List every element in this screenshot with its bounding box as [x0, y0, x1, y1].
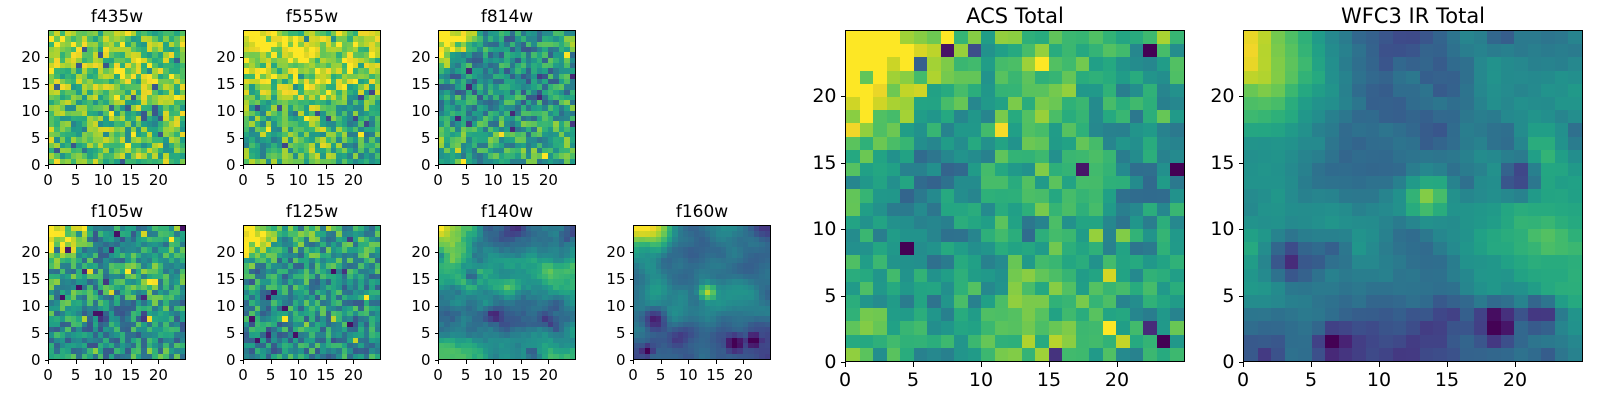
y-tick-label: 5 [576, 324, 626, 342]
x-tick-label: 15 [1037, 369, 1061, 391]
x-tick-mark [521, 360, 522, 364]
y-tick-label: 5 [381, 129, 431, 147]
heatmap-axes-f125w[interactable] [243, 225, 381, 360]
x-tick-label: 15 [316, 171, 335, 189]
y-tick-label: 5 [381, 324, 431, 342]
heatmap-grid-f814w [439, 31, 575, 164]
x-tick-label: 0 [43, 366, 53, 384]
y-tick-label: 15 [381, 270, 431, 288]
x-tick-label: 15 [316, 366, 335, 384]
x-tick-label: 5 [461, 366, 471, 384]
x-tick-mark [243, 360, 244, 364]
y-tick-label: 20 [186, 48, 236, 66]
x-tick-label: 20 [539, 171, 558, 189]
y-tick-label: 10 [186, 297, 236, 315]
heatmap-axes-f160w[interactable] [633, 225, 771, 360]
y-tick-mark [435, 360, 439, 361]
y-tick-label: 20 [0, 48, 41, 66]
x-tick-label: 0 [433, 171, 443, 189]
y-tick-label: 20 [787, 85, 837, 107]
y-tick-label: 0 [576, 351, 626, 369]
y-tick-label: 15 [186, 270, 236, 288]
heatmap-grid-f125w [244, 226, 380, 359]
y-tick-label: 5 [1185, 285, 1235, 307]
x-tick-mark [158, 165, 159, 169]
heatmap-axes-wfc3-ir-total[interactable] [1243, 30, 1583, 362]
y-tick-label: 10 [787, 218, 837, 240]
x-tick-mark [1379, 362, 1380, 367]
y-tick-label: 20 [576, 243, 626, 261]
y-tick-label: 5 [787, 285, 837, 307]
x-tick-label: 20 [539, 366, 558, 384]
x-tick-label: 20 [149, 366, 168, 384]
x-tick-label: 10 [484, 366, 503, 384]
x-tick-mark [521, 165, 522, 169]
x-tick-mark [1243, 362, 1244, 367]
x-tick-label: 20 [1503, 369, 1527, 391]
x-tick-mark [743, 360, 744, 364]
y-tick-label: 15 [186, 75, 236, 93]
y-tick-label: 15 [381, 75, 431, 93]
x-tick-mark [1311, 362, 1312, 367]
heatmap-axes-acs-total[interactable] [845, 30, 1185, 362]
x-tick-mark [103, 360, 104, 364]
x-tick-label: 5 [266, 366, 276, 384]
x-tick-label: 10 [969, 369, 993, 391]
x-tick-label: 10 [94, 366, 113, 384]
panel-title-f814w: f814w [438, 7, 576, 27]
x-tick-mark [688, 360, 689, 364]
x-tick-mark [271, 360, 272, 364]
y-tick-mark [240, 360, 244, 361]
heatmap-grid-f555w [244, 31, 380, 164]
x-tick-mark [353, 360, 354, 364]
x-tick-label: 5 [461, 171, 471, 189]
x-tick-mark [1515, 362, 1516, 367]
y-tick-label: 20 [381, 48, 431, 66]
heatmap-grid-wfc3-ir-total [1244, 31, 1582, 361]
x-tick-label: 10 [94, 171, 113, 189]
x-tick-label: 15 [511, 171, 530, 189]
x-tick-label: 0 [43, 171, 53, 189]
x-tick-mark [103, 165, 104, 169]
y-tick-label: 5 [186, 324, 236, 342]
x-tick-mark [1049, 362, 1050, 367]
x-tick-label: 15 [121, 171, 140, 189]
y-tick-label: 10 [381, 102, 431, 120]
x-tick-label: 10 [289, 171, 308, 189]
y-tick-label: 15 [0, 75, 41, 93]
y-tick-label: 15 [0, 270, 41, 288]
y-tick-label: 10 [0, 297, 41, 315]
x-tick-label: 0 [238, 366, 248, 384]
heatmap-grid-f105w [49, 226, 185, 359]
x-tick-label: 0 [433, 366, 443, 384]
x-tick-mark [548, 360, 549, 364]
y-tick-label: 0 [1185, 351, 1235, 373]
heatmap-axes-f435w[interactable] [48, 30, 186, 165]
y-tick-label: 10 [576, 297, 626, 315]
x-tick-mark [661, 360, 662, 364]
heatmap-axes-f140w[interactable] [438, 225, 576, 360]
panel-title-f140w: f140w [438, 202, 576, 222]
x-tick-label: 0 [1237, 369, 1249, 391]
x-tick-label: 20 [344, 171, 363, 189]
y-tick-label: 0 [381, 156, 431, 174]
y-tick-label: 0 [381, 351, 431, 369]
x-tick-label: 5 [656, 366, 666, 384]
panel-wfc3-ir-total: WFC3 IR Total0510152005101520 [0, 0, 1600, 400]
x-tick-mark [1447, 362, 1448, 367]
x-tick-label: 10 [679, 366, 698, 384]
y-tick-label: 0 [787, 351, 837, 373]
x-tick-mark [48, 360, 49, 364]
x-tick-mark [353, 165, 354, 169]
x-tick-label: 10 [1367, 369, 1391, 391]
x-tick-mark [76, 360, 77, 364]
y-tick-mark [435, 165, 439, 166]
x-tick-label: 5 [907, 369, 919, 391]
x-tick-label: 20 [734, 366, 753, 384]
x-tick-label: 10 [484, 171, 503, 189]
heatmap-grid-f160w [634, 226, 770, 359]
panel-title-f435w: f435w [48, 7, 186, 27]
heatmap-grid-f435w [49, 31, 185, 164]
x-tick-mark [466, 360, 467, 364]
x-tick-label: 20 [1105, 369, 1129, 391]
y-tick-mark [630, 360, 634, 361]
x-tick-mark [271, 165, 272, 169]
x-tick-mark [326, 360, 327, 364]
x-tick-mark [548, 165, 549, 169]
x-tick-mark [633, 360, 634, 364]
x-tick-label: 15 [121, 366, 140, 384]
x-tick-mark [466, 165, 467, 169]
y-tick-mark [45, 165, 49, 166]
x-tick-label: 15 [1435, 369, 1459, 391]
x-tick-mark [76, 165, 77, 169]
y-tick-label: 5 [0, 129, 41, 147]
x-tick-mark [493, 360, 494, 364]
x-tick-label: 5 [71, 366, 81, 384]
heatmap-grid-f140w [439, 226, 575, 359]
heatmap-grid-acs-total [846, 31, 1184, 361]
y-tick-label: 10 [1185, 218, 1235, 240]
x-tick-mark [845, 362, 846, 367]
y-tick-label: 15 [1185, 152, 1235, 174]
panel-title-f105w: f105w [48, 202, 186, 222]
y-tick-mark [1239, 362, 1244, 363]
y-tick-label: 5 [0, 324, 41, 342]
x-tick-mark [158, 360, 159, 364]
panel-title-f555w: f555w [243, 7, 381, 27]
panel-title-acs-total: ACS Total [845, 4, 1185, 28]
y-tick-mark [240, 165, 244, 166]
y-tick-label: 15 [787, 152, 837, 174]
heatmap-axes-f105w[interactable] [48, 225, 186, 360]
y-tick-label: 10 [381, 297, 431, 315]
x-tick-label: 20 [344, 366, 363, 384]
x-tick-mark [298, 360, 299, 364]
x-tick-mark [981, 362, 982, 367]
x-tick-mark [243, 165, 244, 169]
x-tick-mark [298, 165, 299, 169]
y-tick-label: 0 [0, 351, 41, 369]
x-tick-mark [438, 360, 439, 364]
x-tick-label: 0 [238, 171, 248, 189]
y-tick-label: 20 [0, 243, 41, 261]
x-tick-label: 15 [511, 366, 530, 384]
x-tick-mark [131, 165, 132, 169]
x-tick-mark [131, 360, 132, 364]
y-tick-label: 10 [186, 102, 236, 120]
y-tick-label: 10 [0, 102, 41, 120]
panel-title-f125w: f125w [243, 202, 381, 222]
y-tick-label: 0 [186, 156, 236, 174]
figure-canvas: f435w0510152005101520f555w05101520051015… [0, 0, 1600, 400]
y-tick-label: 0 [0, 156, 41, 174]
x-tick-label: 10 [289, 366, 308, 384]
x-tick-mark [913, 362, 914, 367]
x-tick-mark [326, 165, 327, 169]
x-tick-mark [1117, 362, 1118, 367]
x-tick-mark [716, 360, 717, 364]
y-tick-mark [45, 360, 49, 361]
x-tick-label: 5 [266, 171, 276, 189]
x-tick-label: 0 [628, 366, 638, 384]
panel-title-f160w: f160w [633, 202, 771, 222]
y-tick-mark [841, 362, 846, 363]
y-tick-label: 20 [186, 243, 236, 261]
y-tick-label: 15 [576, 270, 626, 288]
x-tick-label: 15 [706, 366, 725, 384]
x-tick-mark [48, 165, 49, 169]
panel-title-wfc3-ir-total: WFC3 IR Total [1243, 4, 1583, 28]
x-tick-label: 0 [839, 369, 851, 391]
y-tick-label: 5 [186, 129, 236, 147]
y-tick-label: 0 [186, 351, 236, 369]
x-tick-label: 20 [149, 171, 168, 189]
y-tick-label: 20 [1185, 85, 1235, 107]
x-tick-label: 5 [71, 171, 81, 189]
y-tick-label: 20 [381, 243, 431, 261]
x-tick-label: 5 [1305, 369, 1317, 391]
heatmap-axes-f814w[interactable] [438, 30, 576, 165]
x-tick-mark [438, 165, 439, 169]
heatmap-axes-f555w[interactable] [243, 30, 381, 165]
x-tick-mark [493, 165, 494, 169]
